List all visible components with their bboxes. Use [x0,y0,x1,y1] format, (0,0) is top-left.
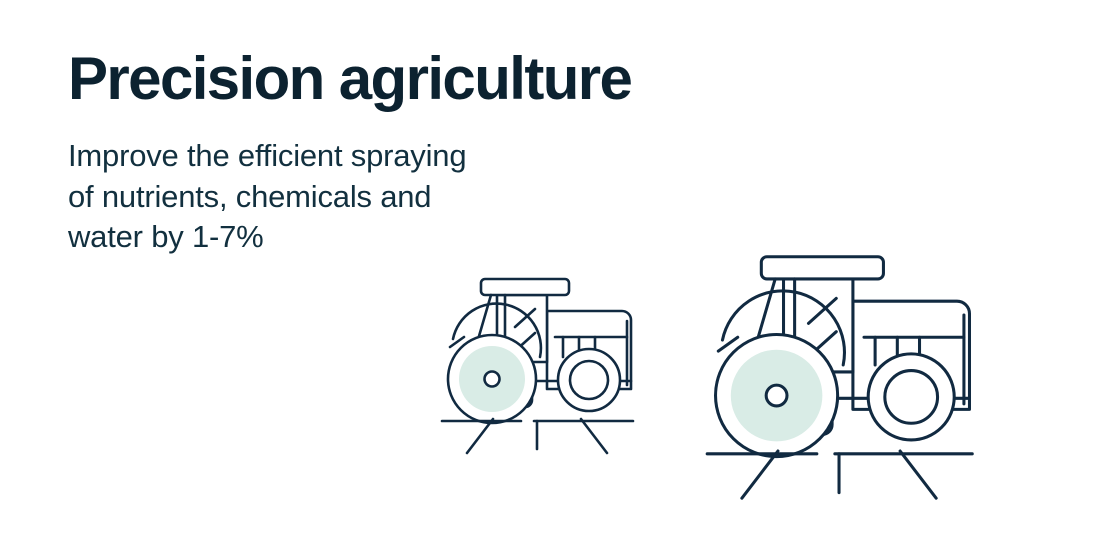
tractor-cab-roof [481,279,569,295]
text-block: Precision agriculture Improve the effici… [68,46,708,258]
tractor-illustration-small [437,259,642,455]
leg-left [467,419,493,453]
leg-right [581,419,607,453]
subtitle-line-2: of nutrients, chemicals and [68,177,708,218]
tractor-cab-roof [761,257,883,279]
tractor-front-hub [485,372,500,387]
tractor-front-hub [766,385,787,406]
slide-canvas: Precision agriculture Improve the effici… [0,0,1100,539]
subtitle: Improve the efficient spraying of nutrie… [68,136,708,258]
leg-left [742,451,778,498]
tractor-rear-rim [570,361,608,399]
page-title: Precision agriculture [68,46,708,112]
tractor-icon-small [437,259,642,455]
subtitle-line-1: Improve the efficient spraying [68,136,708,177]
tractor-rear-rim [885,371,938,424]
tractor-icon-large [700,229,985,501]
leg-right [900,451,936,498]
tractor-illustration-large [700,229,985,501]
subtitle-line-3: water by 1-7% [68,217,708,258]
